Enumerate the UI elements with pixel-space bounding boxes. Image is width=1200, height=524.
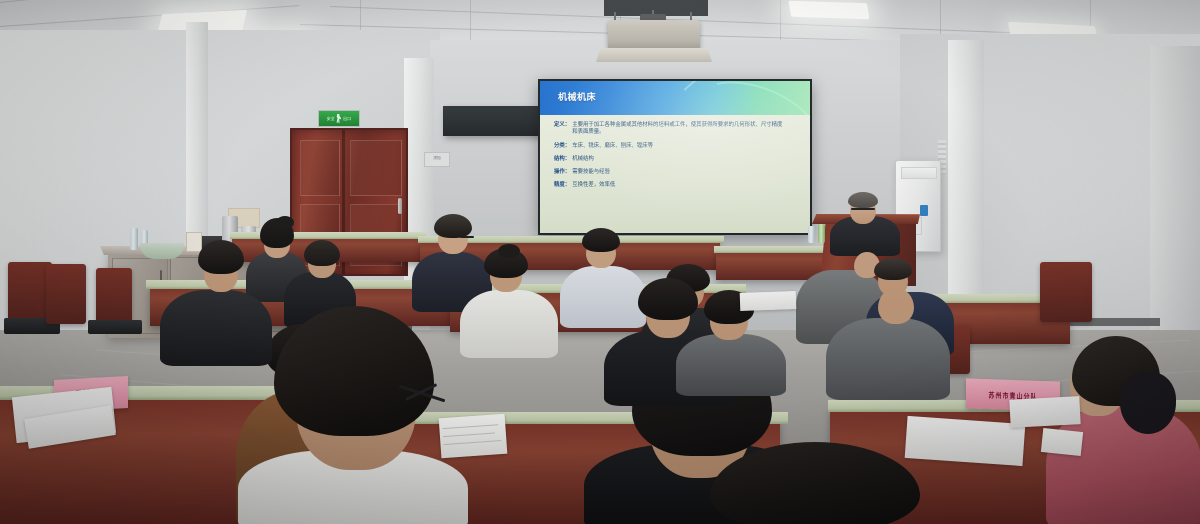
attendee-foreground-right (710, 442, 930, 524)
attendee-right-gray (826, 288, 946, 398)
running-man-icon (336, 114, 342, 123)
chair-right-1 (1040, 262, 1092, 322)
ceiling-light-3 (788, 1, 869, 20)
exit-sign: 安全 出口 (318, 110, 360, 127)
presenter-hair (848, 192, 878, 208)
chair-left-3 (96, 268, 132, 324)
attendee-hair (710, 442, 920, 524)
attendee-hair (198, 240, 244, 274)
slide-row-value: 机械结构 (572, 156, 594, 163)
attendee-hair-bun (276, 216, 294, 229)
wall-notice-sign: 须知 (424, 152, 450, 167)
slide-row-key: 分类： (554, 143, 570, 150)
slide-row-key: 定义： (554, 122, 570, 137)
attendee-head (878, 288, 914, 324)
conference-room-photo: 机械机床 定义： 主要用于加工各种金属或其他材料的坯料或工件，使其获得所要求的几… (0, 0, 1200, 524)
slide-row-value: 车床、铣床、磨床、刨床、镗床等 (572, 143, 653, 150)
notebook-right (1041, 428, 1083, 456)
slide-body: 定义： 主要用于加工各种金属或其他材料的坯料或工件，使其获得所要求的几何形状、尺… (540, 115, 810, 233)
slide-surface: 机械机床 定义： 主要用于加工各种金属或其他材料的坯料或工件，使其获得所要求的几… (540, 81, 810, 233)
slide-row-key: 操作： (554, 169, 570, 176)
wall-pillar-right (948, 40, 984, 330)
door-panel-upper-left (300, 140, 340, 196)
exit-sign-left-text: 安全 (327, 116, 335, 122)
door-panel-upper-right (350, 140, 402, 196)
slide-row-value: 需要技能与经验 (572, 169, 610, 176)
ac-vent-grill (901, 167, 937, 179)
wall-notice-text: 须知 (425, 156, 449, 161)
attendee-hair (274, 306, 434, 436)
slide-row-operation: 操作： 需要技能与经验 (554, 169, 798, 176)
slide-row-value: 互换性差，效率低 (572, 182, 615, 189)
slide-row-value: 主要用于加工各种金属或其他材料的坯料或工件，使其获得所要求的几何形状、尺寸精度和… (572, 122, 787, 137)
door-handle[interactable] (398, 198, 402, 214)
chair-left-2 (46, 264, 86, 324)
slide-header-band: 机械机床 (540, 81, 810, 115)
attendee-hair (304, 240, 340, 266)
projection-screen: 机械机床 定义： 主要用于加工各种金属或其他材料的坯料或工件，使其获得所要求的几… (538, 79, 812, 235)
presenter-glasses (851, 208, 875, 210)
papers-right-desk-2 (1009, 396, 1080, 428)
exit-sign-face: 安全 出口 (319, 111, 359, 126)
attendee-hair (582, 228, 620, 252)
slide-title: 机械机床 (558, 90, 596, 103)
chair-left-3-seat (88, 320, 142, 334)
slide-row-precision: 精度： 互换性差，效率低 (554, 182, 798, 189)
slide-row-definition: 定义： 主要用于加工各种金属或其他材料的坯料或工件，使其获得所要求的几何形状、尺… (554, 122, 798, 137)
slide-row-key: 结构： (554, 156, 570, 163)
slide-row-structure: 结构： 机械结构 (554, 156, 798, 163)
attendee-body (160, 290, 272, 366)
papers-right-desk (905, 416, 1026, 466)
projector-body (608, 20, 700, 50)
water-bottle-1 (130, 228, 138, 250)
attendee-body (826, 318, 950, 400)
presenter-water-bottle (818, 224, 825, 243)
display-panel (443, 106, 543, 136)
attendee-hair (434, 214, 472, 238)
attendee-hair (874, 258, 912, 280)
attendee-left-edge (160, 240, 270, 360)
papers-podium-desk (740, 291, 797, 311)
attendee-foreground-left (248, 300, 498, 524)
attendee-glasses (460, 236, 474, 238)
presenter (826, 186, 906, 252)
slide-row-key: 精度： (554, 182, 570, 189)
exit-sign-right-text: 出口 (343, 116, 351, 122)
attendee-body (676, 334, 786, 396)
wall-corner-right (1150, 46, 1200, 346)
slide-row-classification: 分类： 车床、铣床、磨床、刨床、镗床等 (554, 143, 798, 150)
attendee-ponytail (1120, 372, 1176, 434)
ac-badge (920, 205, 928, 216)
notebook-open (439, 414, 508, 459)
attendee-hair-bun (498, 244, 520, 258)
presenter-water-bottle-2 (808, 226, 815, 243)
projector-plate (596, 48, 712, 62)
